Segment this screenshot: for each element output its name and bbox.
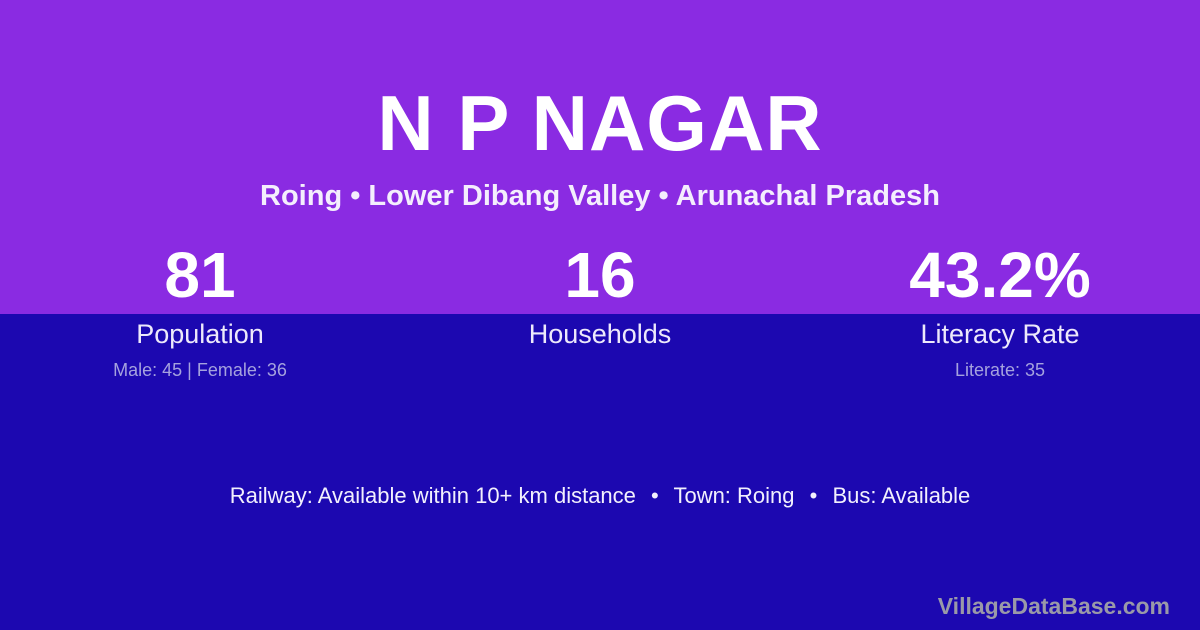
population-label: Population [0, 313, 400, 348]
railway-info: Railway: Available within 10+ km distanc… [230, 483, 636, 508]
households-value: 16 [400, 243, 800, 313]
bus-info: Bus: Available [832, 483, 970, 508]
literacy-rate-value: 43.2% [800, 243, 1200, 313]
literacy-rate-label: Literacy Rate [800, 313, 1200, 348]
card-header: N P NAGAR Roing • Lower Dibang Valley • … [0, 0, 1200, 211]
village-location-subtitle: Roing • Lower Dibang Valley • Arunachal … [0, 162, 1200, 211]
statistics-row: 81 Population Male: 45 | Female: 36 16 H… [0, 243, 1200, 379]
stat-population: 81 Population Male: 45 | Female: 36 [0, 243, 400, 379]
households-label: Households [400, 313, 800, 348]
infra-separator-1: • [642, 483, 668, 508]
population-value: 81 [0, 243, 400, 313]
village-name-title: N P NAGAR [0, 0, 1200, 162]
stat-households: 16 Households [400, 243, 800, 379]
site-brand-watermark: VillageDataBase.com [938, 595, 1170, 618]
infrastructure-line: Railway: Available within 10+ km distanc… [0, 485, 1200, 507]
literate-count: Literate: 35 [800, 348, 1200, 379]
households-sub [400, 348, 800, 379]
village-info-card: N P NAGAR Roing • Lower Dibang Valley • … [0, 0, 1200, 630]
infra-separator-2: • [801, 483, 827, 508]
population-gender-breakdown: Male: 45 | Female: 36 [0, 348, 400, 379]
stat-literacy-rate: 43.2% Literacy Rate Literate: 35 [800, 243, 1200, 379]
town-info: Town: Roing [673, 483, 794, 508]
